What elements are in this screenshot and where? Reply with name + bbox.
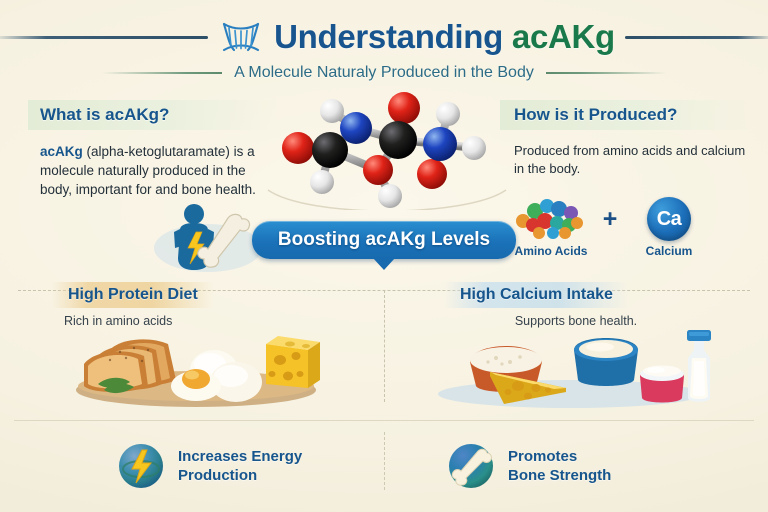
banner-row: Boosting acAKg Levels xyxy=(0,221,768,259)
benefit-energy-line2: Production xyxy=(178,466,302,485)
bottom-divider xyxy=(14,420,754,421)
boosting-levels-banner: Boosting acAKg Levels xyxy=(252,221,516,259)
benefit-increases-energy: Increases Energy Production xyxy=(118,437,302,495)
subtitle-rule-left xyxy=(102,72,222,74)
panel-left-body: acAKg (alpha-ketoglutaramate) is a molec… xyxy=(28,142,278,199)
bottom-divider-vertical xyxy=(384,432,385,490)
benefit-energy-label: Increases Energy Production xyxy=(178,447,302,485)
panel-right-heading: How is it Produced? xyxy=(500,100,750,130)
title-rule-right xyxy=(625,36,768,39)
panel-left-lead-term: acAKg xyxy=(40,144,83,159)
title-rule-left xyxy=(0,36,208,39)
page-title: Understanding acAKg xyxy=(274,18,615,56)
panel-what-is-acakg: What is acAKg? acAKg (alpha-ketoglutaram… xyxy=(28,100,278,199)
benefit-bone-line2: Bone Strength xyxy=(508,466,611,485)
column-high-protein-diet: High Protein Diet Rich in amino acids xyxy=(0,272,384,412)
panel-how-produced: How is it Produced? Produced from amino … xyxy=(500,100,750,179)
column-high-calcium-intake: High Calcium Intake Supports bone health… xyxy=(384,272,768,412)
milk-cheese-yogurt-illustration xyxy=(384,328,768,410)
title-part-understanding: Understanding xyxy=(274,18,512,55)
high-protein-heading: High Protein Diet xyxy=(52,282,214,308)
high-protein-subtext: Rich in amino acids xyxy=(64,314,364,328)
subtitle-rule-right xyxy=(546,72,666,74)
panel-left-heading: What is acAKg? xyxy=(28,100,278,130)
high-calcium-subtext: Supports bone health. xyxy=(384,314,768,328)
energy-lightning-badge-icon xyxy=(118,443,164,489)
bone-strength-badge-icon xyxy=(448,443,494,489)
dna-helix-icon xyxy=(218,20,264,54)
title-row: Understanding acAKg xyxy=(0,14,768,60)
benefit-bone-line1: Promotes xyxy=(508,447,611,466)
middle-section: High Protein Diet Rich in amino acids xyxy=(0,272,768,412)
benefit-promotes-bone-strength: Promotes Bone Strength xyxy=(448,437,611,495)
bread-eggs-cheese-illustration xyxy=(0,328,384,410)
high-calcium-heading: High Calcium Intake xyxy=(444,282,629,308)
benefit-energy-line1: Increases Energy xyxy=(178,447,302,466)
molecule-ball-and-stick-diagram xyxy=(262,78,512,210)
panel-right-body: Produced from amino acids and calcium in… xyxy=(500,142,750,179)
benefit-bone-label: Promotes Bone Strength xyxy=(508,447,611,485)
infographic-canvas: Understanding acAKg A Molecule Naturaly … xyxy=(0,0,768,512)
title-part-acakg: acAKg xyxy=(512,18,615,55)
